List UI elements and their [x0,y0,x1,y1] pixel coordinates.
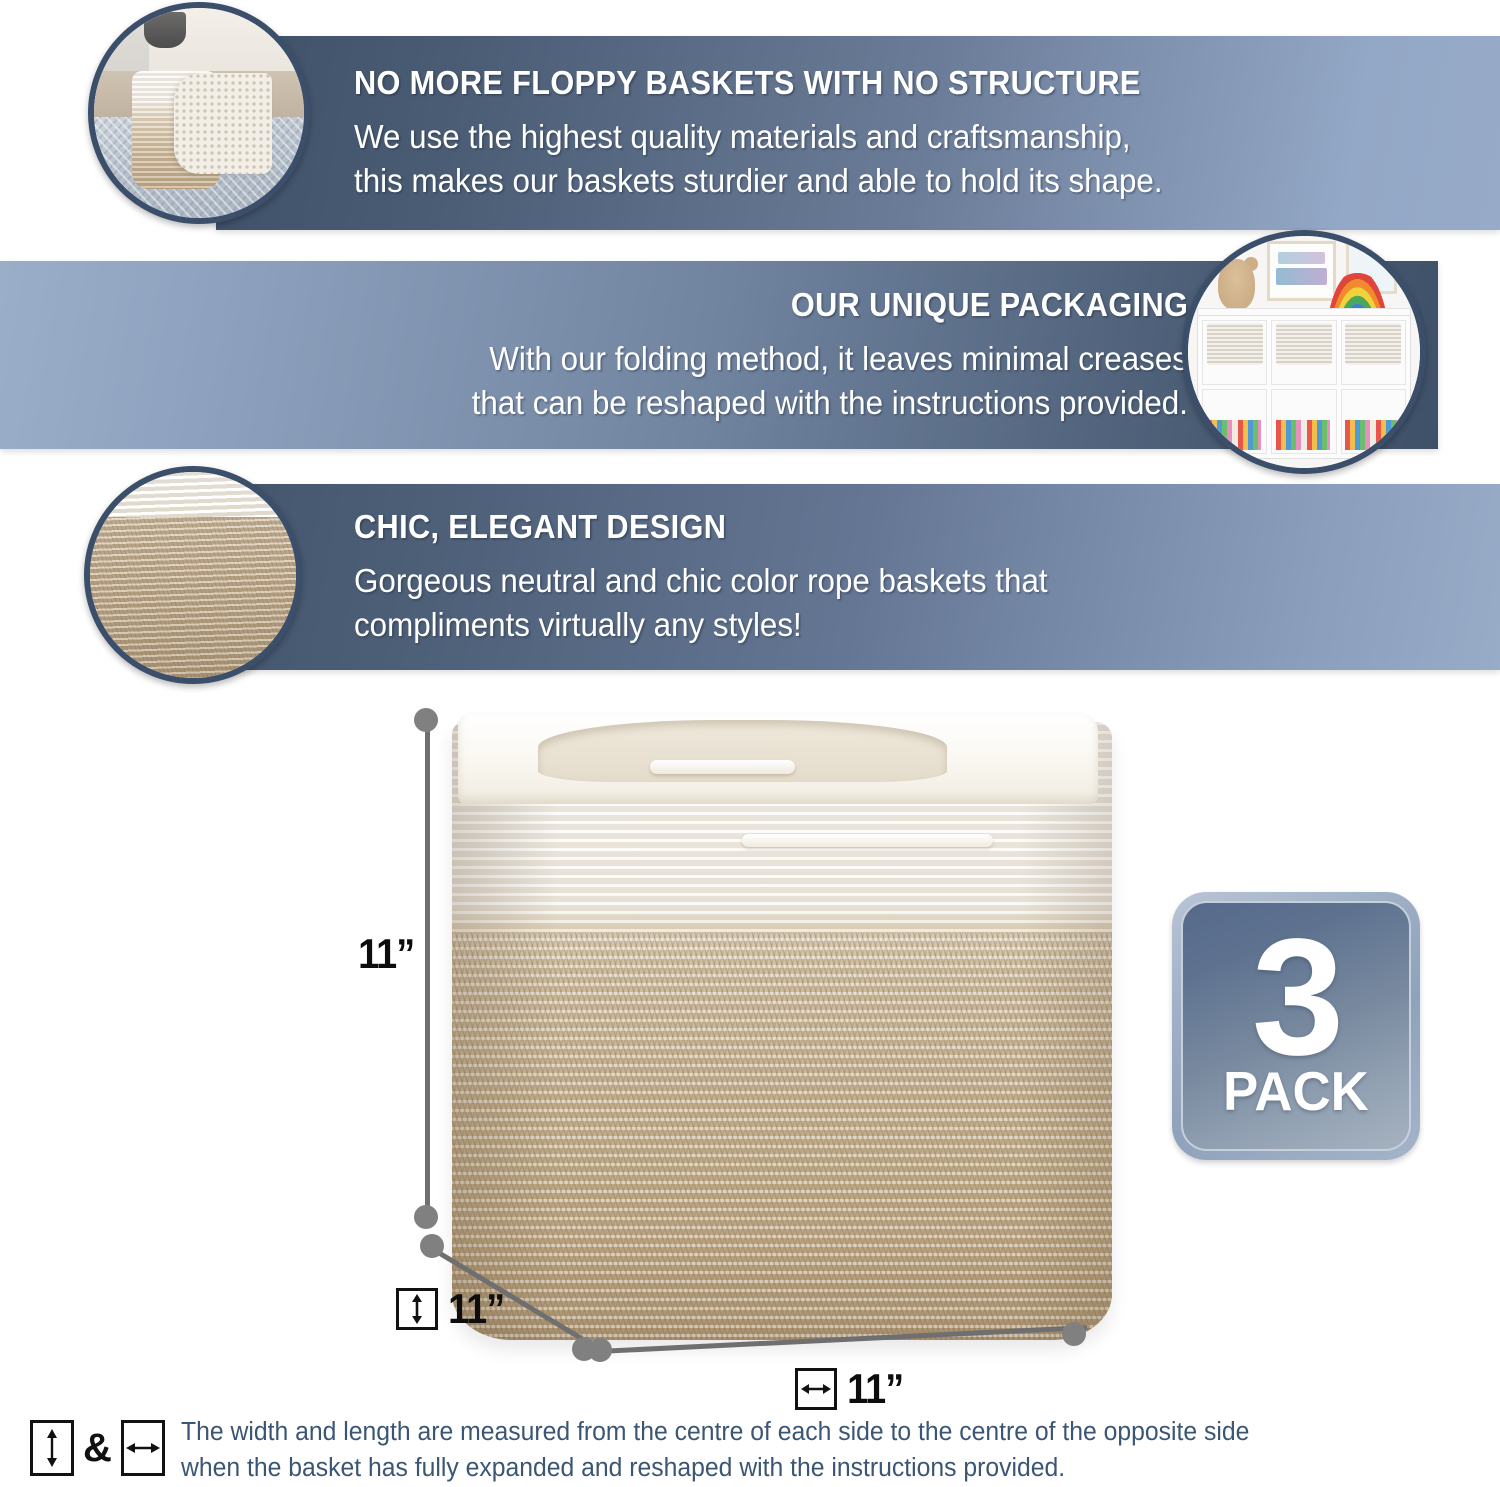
footnote-ampersand: & [83,1428,112,1468]
height-dimension-label: 11” [358,930,414,978]
pack-count-badge: 3 PACK [1172,892,1420,1160]
width-dimension-dot-end [1062,1322,1086,1346]
depth-dimension-value: 11” [448,1285,504,1333]
measurement-footnote: & The width and length are measured from… [30,1412,1282,1487]
vertical-arrow-icon [396,1288,438,1330]
storage-basket [1345,323,1401,365]
poster-text-play [1276,268,1327,284]
basket-handle-left [650,760,795,774]
poster-text-lets [1278,252,1324,264]
banner-body: Gorgeous neutral and chic color rope bas… [354,559,1443,647]
depth-dimension-dot-start [420,1234,444,1258]
vertical-arrow-icon [30,1420,74,1476]
height-dimension-line [425,720,430,1218]
stool-leg [144,12,186,48]
banner-title: CHIC, ELEGANT DESIGN [354,508,1420,546]
shelf-cube [1341,389,1406,454]
shelf-cube [1271,320,1336,385]
height-dimension-dot-top [414,708,438,732]
shelf-cube [1202,389,1267,454]
width-dimension-callout: 11” [795,1365,906,1413]
shelf-cube [1271,389,1336,454]
waffle-blanket [174,73,273,174]
basket-handle-right [742,834,993,847]
basket-shadow-right [1020,722,1112,1340]
horizontal-arrow-icon [121,1420,165,1476]
banner-body: We use the highest quality materials and… [354,115,1443,203]
white-rope-weave [90,472,296,517]
banner-title: NO MORE FLOPPY BASKETS WITH NO STRUCTURE [354,64,1420,102]
photo-nursery-shelf-with-baskets [1182,230,1426,474]
banner-title: OUR UNIQUE PACKAGING [791,286,1188,324]
pack-badge-inner: 3 PACK [1181,901,1411,1151]
basket-shadow-left [452,722,558,1340]
pack-count-word: PACK [1223,1064,1369,1119]
photo-rope-texture-closeup [84,466,302,684]
rainbow-toy [1327,273,1387,310]
books-row [1345,420,1399,450]
horizontal-arrow-icon [795,1368,837,1410]
tan-rope-weave [90,513,296,678]
photo-content [90,472,296,678]
width-dimension-value: 11” [847,1365,903,1413]
shelf-cube [1202,320,1267,385]
photo-content [94,8,304,218]
feature-banner-chic-design: CHIC, ELEGANT DESIGN Gorgeous neutral an… [216,484,1500,670]
books-row [1276,420,1330,450]
storage-basket [1207,323,1263,365]
height-dimension-dot-bottom [414,1205,438,1229]
photo-basket-with-blanket-on-rug [88,2,310,224]
product-basket-photo [452,700,1112,1340]
storage-basket [1276,323,1332,365]
shelf-cube [1341,320,1406,385]
width-dimension-dot-start [588,1338,612,1362]
feature-banner-no-floppy: NO MORE FLOPPY BASKETS WITH NO STRUCTURE… [216,36,1500,230]
photo-content [1188,236,1420,468]
footnote-icons: & [30,1420,165,1476]
banner-body: With our folding method, it leaves minim… [472,337,1188,425]
teddy-bear [1218,259,1255,310]
footnote-text: The width and length are measured from t… [181,1414,1249,1487]
cube-shelf-unit [1197,315,1410,459]
depth-dimension-callout: 11” [396,1285,507,1333]
books-row [1207,420,1261,450]
pack-count-number: 3 [1252,933,1340,1062]
